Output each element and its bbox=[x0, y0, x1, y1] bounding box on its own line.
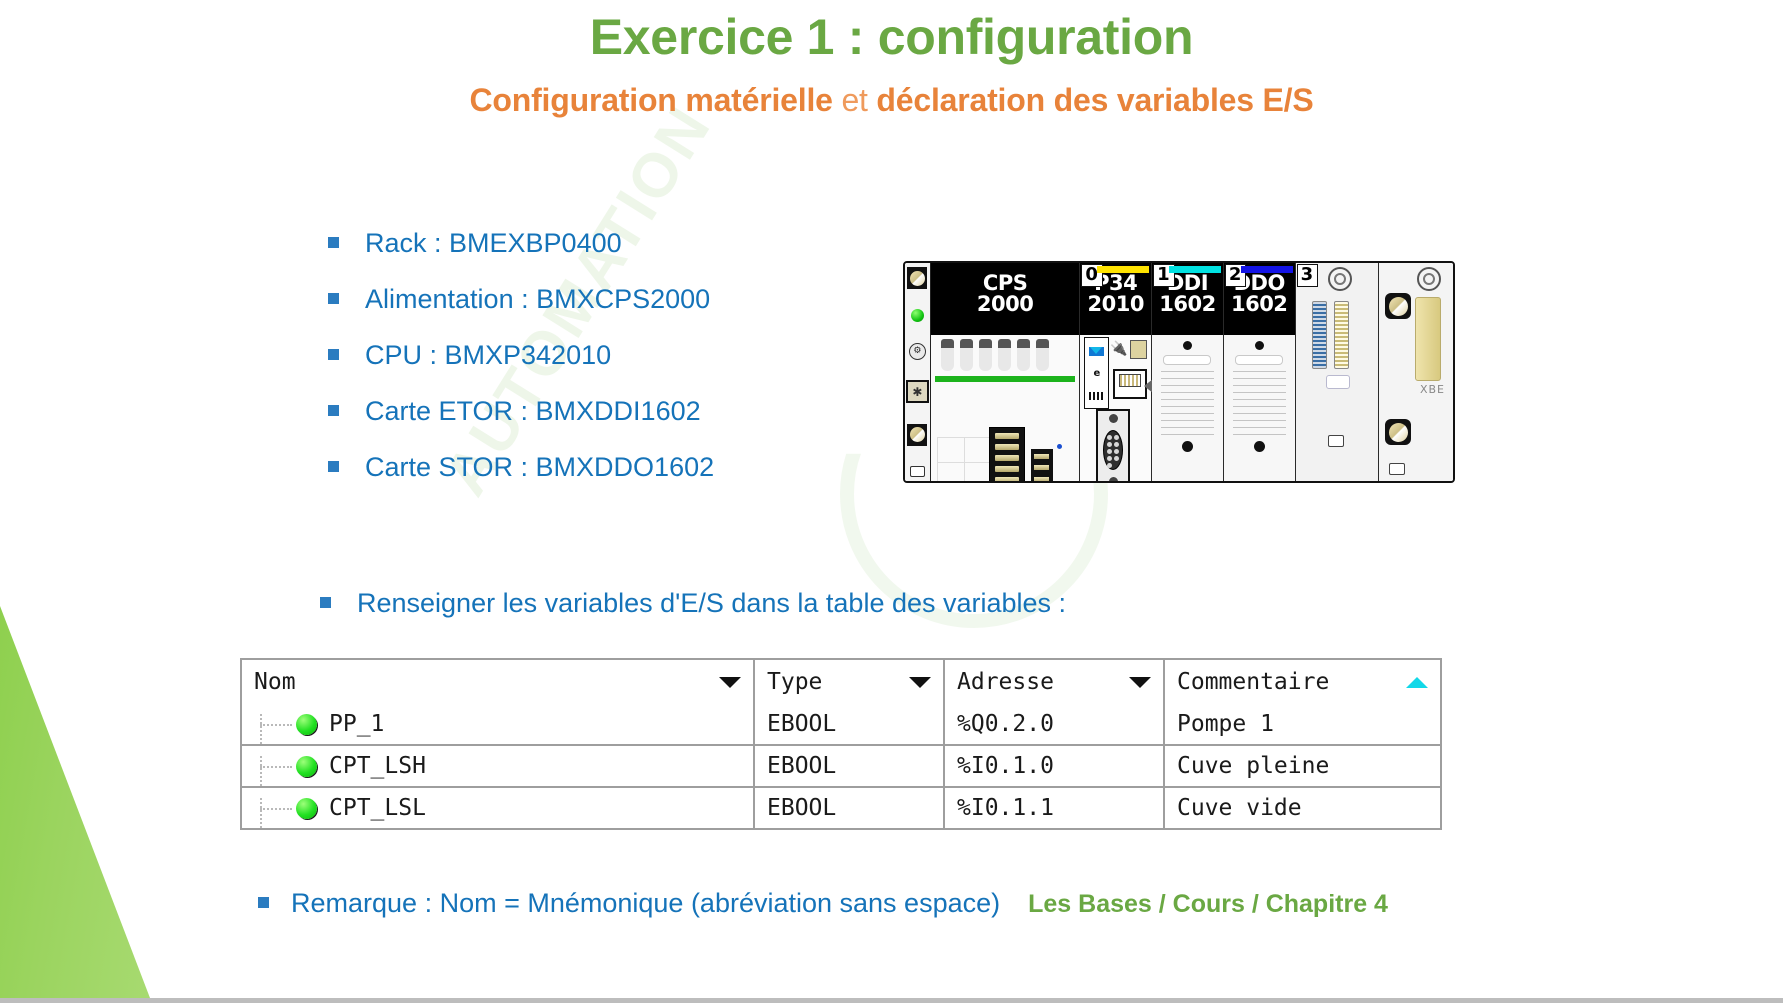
plc-slot-3-empty: 3 bbox=[1296, 263, 1380, 481]
module-label-slot bbox=[1235, 355, 1283, 365]
ddo-body bbox=[1224, 335, 1295, 483]
table-header-row: Nom Type Adresse Commentaire bbox=[242, 660, 1440, 704]
cell-type[interactable]: EBOOL bbox=[755, 746, 945, 786]
column-header-nom[interactable]: Nom bbox=[242, 660, 755, 704]
power-led-icon bbox=[911, 309, 924, 322]
remark-text: Remarque : Nom = Mnémonique (abréviation… bbox=[291, 888, 1000, 919]
module-name-line2: 2000 bbox=[931, 294, 1079, 315]
slot-number-3: 3 bbox=[1297, 264, 1319, 287]
reset-button-icon: ✱ bbox=[906, 380, 929, 403]
mount-hole-icon bbox=[1389, 463, 1405, 475]
usb-icon: 🔌 bbox=[1110, 341, 1127, 357]
cell-adresse[interactable]: %I0.1.0 bbox=[945, 746, 1165, 786]
ground-icon: ⚙ bbox=[909, 343, 926, 360]
slot-color-strip-blue bbox=[1241, 266, 1293, 273]
list-item: Carte STOR : BMXDDO1602 bbox=[328, 452, 714, 508]
tree-connector-icon bbox=[254, 714, 296, 734]
chevron-down-icon[interactable] bbox=[909, 677, 931, 688]
module-name-line1: CPS bbox=[931, 273, 1079, 294]
screw-icon bbox=[1385, 293, 1411, 319]
page-subtitle: Configuration matérielle et déclaration … bbox=[0, 82, 1783, 119]
instruction-text: Renseigner les variables d'E/S dans la t… bbox=[357, 588, 1066, 619]
variable-status-led-icon bbox=[296, 798, 317, 819]
sd-slot-icon bbox=[1130, 340, 1147, 359]
module-screw-icon bbox=[1255, 341, 1264, 350]
column-header-commentaire[interactable]: Commentaire bbox=[1165, 660, 1440, 704]
cell-nom[interactable]: PP_1 bbox=[242, 704, 755, 744]
screw-icon bbox=[907, 267, 927, 289]
cell-nom[interactable]: CPT_LSH bbox=[242, 746, 755, 786]
cps-green-bar bbox=[935, 376, 1075, 382]
module-name-line2: 1602 bbox=[1152, 294, 1223, 315]
plc-module-ddi1602: 1 DDI 1602 bbox=[1152, 263, 1224, 481]
screw-icon bbox=[907, 424, 927, 446]
column-header-adresse-label: Adresse bbox=[957, 669, 1054, 695]
list-item: Carte ETOR : BMXDDI1602 bbox=[328, 396, 714, 452]
screw-icon bbox=[1385, 419, 1411, 445]
backplane-connector-icon bbox=[1312, 301, 1349, 369]
plc-left-rail: ⚙ ✱ bbox=[905, 263, 931, 481]
plc-module-cps2000: CPS 2000 bbox=[931, 263, 1080, 481]
plc-module-p342010: 0 P34 2010 e 🔌 bbox=[1080, 263, 1152, 481]
plc-module-ddo1602: 2 DDO 1602 bbox=[1224, 263, 1296, 481]
xbe-label: XBE bbox=[1420, 383, 1445, 396]
cps-terminal-block-small bbox=[1031, 449, 1053, 483]
column-header-commentaire-label: Commentaire bbox=[1177, 669, 1329, 695]
hardware-item-cpu: CPU : BMXP342010 bbox=[365, 340, 611, 371]
square-bullet-icon bbox=[320, 597, 331, 608]
terminal-lines bbox=[1224, 371, 1295, 435]
screw-icon bbox=[1417, 267, 1441, 291]
serial-db9-port-icon bbox=[1096, 409, 1130, 483]
module-screw-icon bbox=[1254, 441, 1265, 452]
variable-name: CPT_LSH bbox=[329, 753, 426, 779]
cps-blue-indicator bbox=[1057, 444, 1062, 449]
screw-icon bbox=[1328, 267, 1352, 291]
column-header-adresse[interactable]: Adresse bbox=[945, 660, 1165, 704]
cps-terminal-block bbox=[989, 427, 1025, 483]
module-name-line2: 1602 bbox=[1224, 294, 1295, 315]
hardware-item-rack: Rack : BMEXBP0400 bbox=[365, 228, 622, 259]
hardware-item-carte-stor: Carte STOR : BMXDDO1602 bbox=[365, 452, 714, 483]
decorative-green-wedge bbox=[0, 598, 150, 998]
mount-hole-icon bbox=[1328, 435, 1344, 447]
chevron-down-icon[interactable] bbox=[1129, 677, 1151, 688]
cell-commentaire[interactable]: Cuve pleine bbox=[1165, 746, 1440, 786]
instruction-block: Renseigner les variables d'E/S dans la t… bbox=[320, 588, 1066, 644]
module-name-line2: 2010 bbox=[1080, 294, 1151, 315]
column-header-nom-label: Nom bbox=[254, 669, 296, 695]
slot-color-strip-cyan bbox=[1169, 266, 1221, 273]
list-item: Renseigner les variables d'E/S dans la t… bbox=[320, 588, 1066, 644]
hardware-item-carte-etor: Carte ETOR : BMXDDI1602 bbox=[365, 396, 701, 427]
subtitle-part-1: Configuration matérielle bbox=[470, 82, 833, 118]
cell-commentaire[interactable]: Cuve vide bbox=[1165, 788, 1440, 828]
column-header-type-label: Type bbox=[767, 669, 822, 695]
cell-nom[interactable]: CPT_LSL bbox=[242, 788, 755, 828]
variable-status-led-icon bbox=[296, 756, 317, 777]
column-header-type[interactable]: Type bbox=[755, 660, 945, 704]
list-item: Rack : BMEXBP0400 bbox=[328, 228, 714, 284]
module-screw-icon bbox=[1182, 441, 1193, 452]
course-reference: Les Bases / Cours / Chapitre 4 bbox=[1028, 890, 1388, 919]
terminal-lines bbox=[1152, 371, 1223, 435]
slot-color-strip-yellow bbox=[1097, 266, 1149, 273]
list-item: Alimentation : BMXCPS2000 bbox=[328, 284, 714, 340]
p34-body: e 🔌 bbox=[1080, 335, 1151, 483]
cell-commentaire[interactable]: Pompe 1 bbox=[1165, 704, 1440, 744]
variable-name-wrap: CPT_LSH bbox=[254, 753, 426, 779]
hardware-list: Rack : BMEXBP0400 Alimentation : BMXCPS2… bbox=[328, 228, 714, 508]
remark-block: Remarque : Nom = Mnémonique (abréviation… bbox=[258, 888, 1388, 919]
square-bullet-icon bbox=[328, 293, 339, 304]
chevron-up-icon[interactable] bbox=[1406, 677, 1428, 688]
mount-hole-icon bbox=[910, 466, 925, 477]
subtitle-connector: et bbox=[833, 82, 877, 118]
tree-connector-icon bbox=[254, 798, 296, 818]
table-row[interactable]: PP_1 EBOOL %Q0.2.0 Pompe 1 bbox=[242, 704, 1440, 744]
xbe-connector-bar bbox=[1415, 297, 1441, 381]
page-title: Exercice 1 : configuration bbox=[0, 8, 1783, 66]
slide-root: AUTOMATION Exercice 1 : configuration Co… bbox=[0, 0, 1783, 1003]
square-bullet-icon bbox=[328, 405, 339, 416]
square-bullet-icon bbox=[328, 349, 339, 360]
plc-extension-xbe: XBE bbox=[1379, 263, 1453, 481]
cell-type[interactable]: EBOOL bbox=[755, 704, 945, 744]
cps-grid-detail bbox=[937, 437, 991, 483]
variable-name: PP_1 bbox=[329, 711, 384, 737]
module-screw-icon bbox=[1183, 341, 1192, 350]
square-bullet-icon bbox=[258, 897, 269, 908]
variable-name: CPT_LSL bbox=[329, 795, 426, 821]
module-label-slot bbox=[1163, 355, 1211, 365]
variable-name-wrap: PP_1 bbox=[254, 711, 384, 737]
variable-status-led-icon bbox=[296, 714, 317, 735]
cell-type[interactable]: EBOOL bbox=[755, 788, 945, 828]
subtitle-part-2: déclaration des variables E/S bbox=[876, 82, 1313, 118]
square-bullet-icon bbox=[328, 237, 339, 248]
cps-body bbox=[931, 335, 1079, 483]
module-label-cps: CPS 2000 bbox=[931, 263, 1079, 335]
table-row[interactable]: CPT_LSH EBOOL %I0.1.0 Cuve pleine bbox=[242, 744, 1440, 786]
tree-connector-icon bbox=[254, 756, 296, 776]
table-row[interactable]: CPT_LSL EBOOL %I0.1.1 Cuve vide bbox=[242, 786, 1440, 828]
cell-adresse[interactable]: %I0.1.1 bbox=[945, 788, 1165, 828]
list-item: CPU : BMXP342010 bbox=[328, 340, 714, 396]
chevron-down-icon[interactable] bbox=[719, 677, 741, 688]
plc-rack-image: ⚙ ✱ CPS 2000 bbox=[903, 261, 1455, 483]
cell-adresse[interactable]: %Q0.2.0 bbox=[945, 704, 1165, 744]
cps-pins bbox=[931, 335, 1079, 371]
variable-name-wrap: CPT_LSL bbox=[254, 795, 426, 821]
memory-card-icon: e bbox=[1084, 337, 1109, 409]
hardware-item-alimentation: Alimentation : BMXCPS2000 bbox=[365, 284, 710, 315]
ethernet-rj45-icon bbox=[1113, 369, 1147, 399]
variables-table: Nom Type Adresse Commentaire PP_ bbox=[240, 658, 1442, 830]
ddi-body bbox=[1152, 335, 1223, 483]
square-bullet-icon bbox=[328, 461, 339, 472]
label-window bbox=[1326, 375, 1350, 389]
